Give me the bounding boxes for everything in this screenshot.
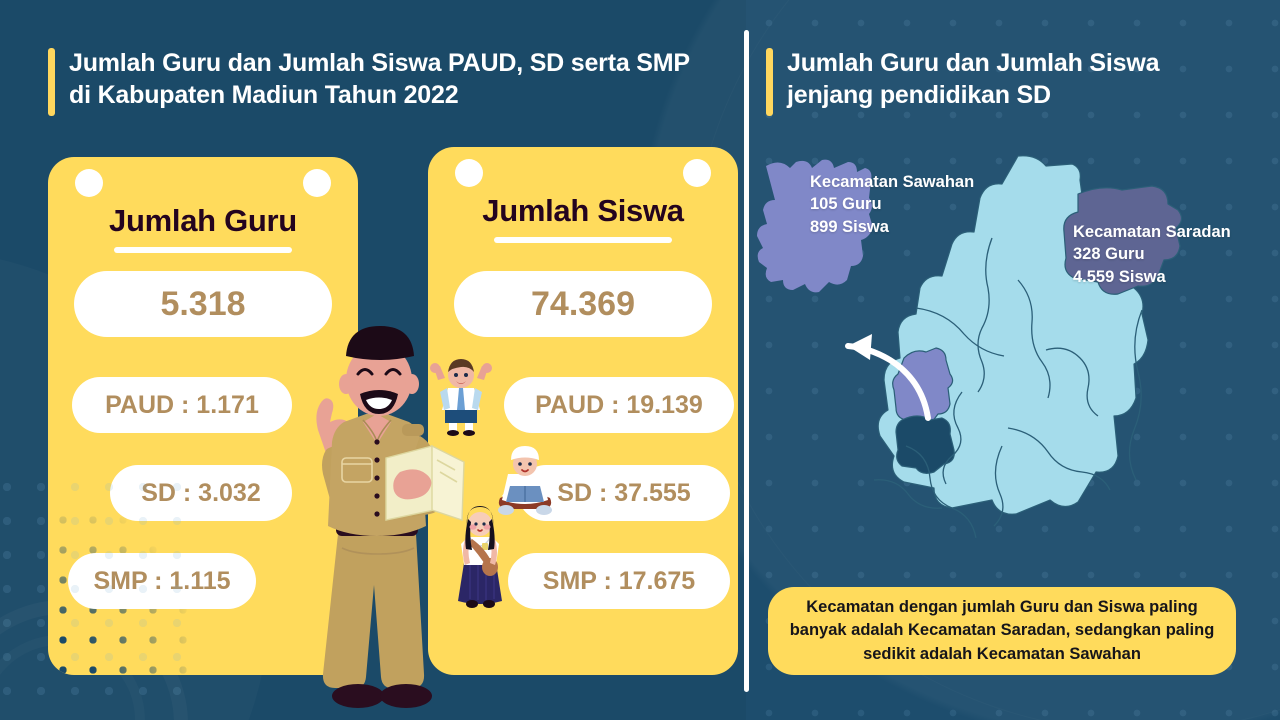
map-callout-sawahan: Kecamatan Sawahan 105 Guru 899 Siswa bbox=[810, 171, 1040, 238]
paud-student-illustration bbox=[430, 358, 492, 436]
card-title-underline bbox=[114, 247, 292, 253]
siswa-smp-value: SMP : 17.675 bbox=[508, 553, 730, 609]
infographic-canvas: Jumlah Guru dan Jumlah Siswa PAUD, SD se… bbox=[0, 0, 1280, 720]
guru-paud-value: PAUD : 1.171 bbox=[72, 377, 292, 433]
callout-sawahan-teachers: 105 Guru bbox=[810, 193, 1040, 215]
callout-saradan-students: 4.559 Siswa bbox=[1073, 266, 1273, 288]
callout-sawahan-district: Kecamatan Sawahan bbox=[810, 171, 1040, 193]
card-guru-title: Jumlah Guru bbox=[48, 203, 358, 239]
siswa-total-value: 74.369 bbox=[454, 271, 712, 337]
card-siswa-title: Jumlah Siswa bbox=[428, 193, 738, 229]
punch-hole-right-icon bbox=[683, 159, 711, 187]
callout-saradan-district: Kecamatan Saradan bbox=[1073, 221, 1273, 243]
punch-hole-left-icon bbox=[455, 159, 483, 187]
callout-saradan-teachers: 328 Guru bbox=[1073, 243, 1273, 265]
map-callout-saradan: Kecamatan Saradan 328 Guru 4.559 Siswa bbox=[1073, 221, 1273, 288]
left-panel-title: Jumlah Guru dan Jumlah Siswa PAUD, SD se… bbox=[48, 48, 708, 116]
punch-hole-right-icon bbox=[303, 169, 331, 197]
summary-note: Kecamatan dengan jumlah Guru dan Siswa p… bbox=[768, 587, 1236, 675]
right-panel-title-text: Jumlah Guru dan Jumlah Siswa jenjang pen… bbox=[787, 48, 1236, 111]
vertical-divider bbox=[744, 30, 749, 692]
siswa-paud-value: PAUD : 19.139 bbox=[504, 377, 734, 433]
punch-hole-left-icon bbox=[75, 169, 103, 197]
corner-dot-texture bbox=[0, 470, 200, 720]
title-accent-bar bbox=[48, 48, 55, 116]
callout-sawahan-students: 899 Siswa bbox=[810, 216, 1040, 238]
smp-student-illustration bbox=[452, 505, 508, 613]
left-panel-title-text: Jumlah Guru dan Jumlah Siswa PAUD, SD se… bbox=[69, 48, 708, 111]
title-accent-bar bbox=[766, 48, 773, 116]
card-title-underline bbox=[494, 237, 672, 243]
right-panel-title: Jumlah Guru dan Jumlah Siswa jenjang pen… bbox=[766, 48, 1236, 116]
